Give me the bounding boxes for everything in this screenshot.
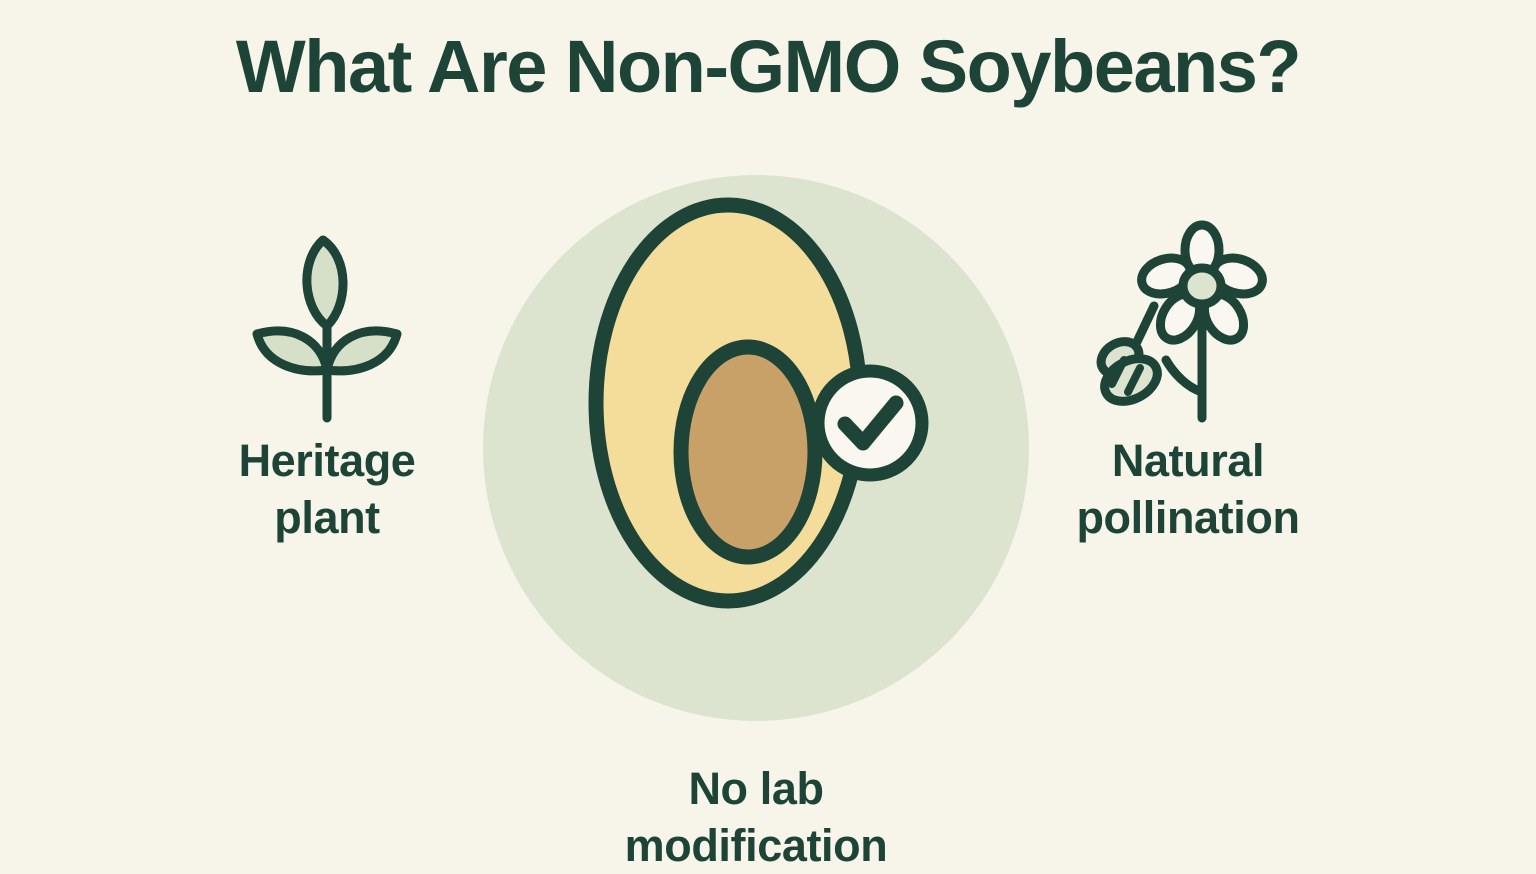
check-badge-icon [818, 371, 922, 475]
flower-with-bee-icon [1098, 222, 1278, 422]
label-natural-pollination: Natural pollination [1018, 432, 1358, 546]
sprout-icon [237, 222, 417, 422]
label-line: Natural [1018, 432, 1358, 489]
infographic-canvas: What Are Non-GMO Soybeans? [0, 0, 1536, 864]
label-line: modification [556, 817, 956, 874]
bean-inner [681, 347, 815, 557]
label-line: Heritage [167, 432, 487, 489]
label-line: No lab [556, 760, 956, 817]
soybean-cross-section [483, 175, 1029, 721]
label-line: pollination [1018, 489, 1358, 546]
page-title: What Are Non-GMO Soybeans? [0, 28, 1536, 106]
label-heritage-plant: Heritage plant [167, 432, 487, 546]
label-line: plant [167, 489, 487, 546]
label-no-lab-modification: No lab modification [556, 760, 956, 874]
